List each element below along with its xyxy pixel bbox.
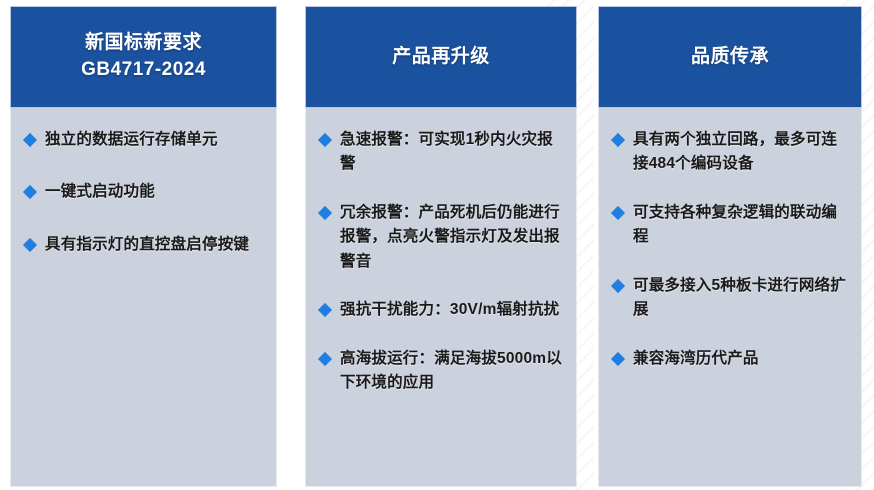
list-item: 一键式启动功能 [24, 180, 265, 204]
diamond-bullet-icon [611, 352, 625, 366]
diamond-bullet-icon [318, 352, 332, 366]
list-item-text: 急速报警：可实现1秒内火灾报警 [340, 131, 553, 172]
list-item-text: 具有两个独立回路，最多可连接484个编码设备 [633, 131, 837, 172]
diamond-bullet-icon [611, 206, 625, 220]
feature-card-quality-heritage: 品质传承 具有两个独立回路，最多可连接484个编码设备 可支持各种复杂逻辑的联动… [598, 6, 862, 487]
diamond-bullet-icon [318, 133, 332, 147]
bullet-list-new-standard: 独立的数据运行存储单元 一键式启动功能 具有指示灯的直控盘启停按键 [24, 128, 265, 257]
slide-board: 新国标新要求 GB4717-2024 独立的数据运行存储单元 一键式启动功能 具… [0, 0, 874, 490]
card-body-product-upgrade: 急速报警：可实现1秒内火灾报警 冗余报警：产品死机后仍能进行报警，点亮火警指示灯… [305, 108, 577, 487]
list-item: 独立的数据运行存储单元 [24, 128, 265, 152]
bullet-list-quality-heritage: 具有两个独立回路，最多可连接484个编码设备 可支持各种复杂逻辑的联动编程 可最… [612, 128, 850, 371]
bullet-list-product-upgrade: 急速报警：可实现1秒内火灾报警 冗余报警：产品死机后仍能进行报警，点亮火警指示灯… [319, 128, 565, 396]
list-item-text: 冗余报警：产品死机后仍能进行报警，点亮火警指示灯及发出报警音 [340, 204, 560, 270]
list-item: 具有指示灯的直控盘启停按键 [24, 233, 265, 257]
card-header-quality-heritage: 品质传承 [598, 6, 862, 108]
card-header-product-upgrade: 产品再升级 [305, 6, 577, 108]
card-body-quality-heritage: 具有两个独立回路，最多可连接484个编码设备 可支持各种复杂逻辑的联动编程 可最… [598, 108, 862, 487]
list-item: 具有两个独立回路，最多可连接484个编码设备 [612, 128, 850, 177]
diamond-bullet-icon [318, 206, 332, 220]
list-item: 强抗干扰能力：30V/m辐射抗扰 [319, 298, 565, 322]
diamond-bullet-icon [611, 279, 625, 293]
card-title-line-1: 品质传承 [691, 44, 769, 71]
diamond-bullet-icon [23, 185, 37, 199]
card-title-line-2: GB4717-2024 [81, 57, 206, 84]
list-item-text: 一键式启动功能 [45, 183, 155, 200]
list-item: 急速报警：可实现1秒内火灾报警 [319, 128, 565, 177]
card-header-new-standard: 新国标新要求 GB4717-2024 [10, 6, 277, 108]
list-item-text: 兼容海湾历代产品 [633, 350, 759, 367]
card-body-new-standard: 独立的数据运行存储单元 一键式启动功能 具有指示灯的直控盘启停按键 [10, 108, 277, 487]
list-item: 可最多接入5种板卡进行网络扩展 [612, 274, 850, 323]
diamond-bullet-icon [23, 238, 37, 252]
list-item-text: 可最多接入5种板卡进行网络扩展 [633, 277, 846, 318]
list-item: 冗余报警：产品死机后仍能进行报警，点亮火警指示灯及发出报警音 [319, 201, 565, 274]
diamond-bullet-icon [318, 303, 332, 317]
diamond-bullet-icon [23, 133, 37, 147]
list-item-text: 独立的数据运行存储单元 [45, 131, 218, 148]
feature-card-product-upgrade: 产品再升级 急速报警：可实现1秒内火灾报警 冗余报警：产品死机后仍能进行报警，点… [305, 6, 577, 487]
list-item-text: 强抗干扰能力：30V/m辐射抗扰 [340, 301, 559, 318]
list-item: 高海拔运行：满足海拔5000m以下环境的应用 [319, 347, 565, 396]
feature-card-new-standard: 新国标新要求 GB4717-2024 独立的数据运行存储单元 一键式启动功能 具… [10, 6, 277, 487]
card-title-line-1: 产品再升级 [392, 44, 490, 71]
diamond-bullet-icon [611, 133, 625, 147]
list-item: 兼容海湾历代产品 [612, 347, 850, 371]
list-item-text: 具有指示灯的直控盘启停按键 [45, 236, 249, 253]
list-item-text: 高海拔运行：满足海拔5000m以下环境的应用 [340, 350, 562, 391]
list-item: 可支持各种复杂逻辑的联动编程 [612, 201, 850, 250]
card-title-line-1: 新国标新要求 [85, 30, 202, 57]
list-item-text: 可支持各种复杂逻辑的联动编程 [633, 204, 837, 245]
